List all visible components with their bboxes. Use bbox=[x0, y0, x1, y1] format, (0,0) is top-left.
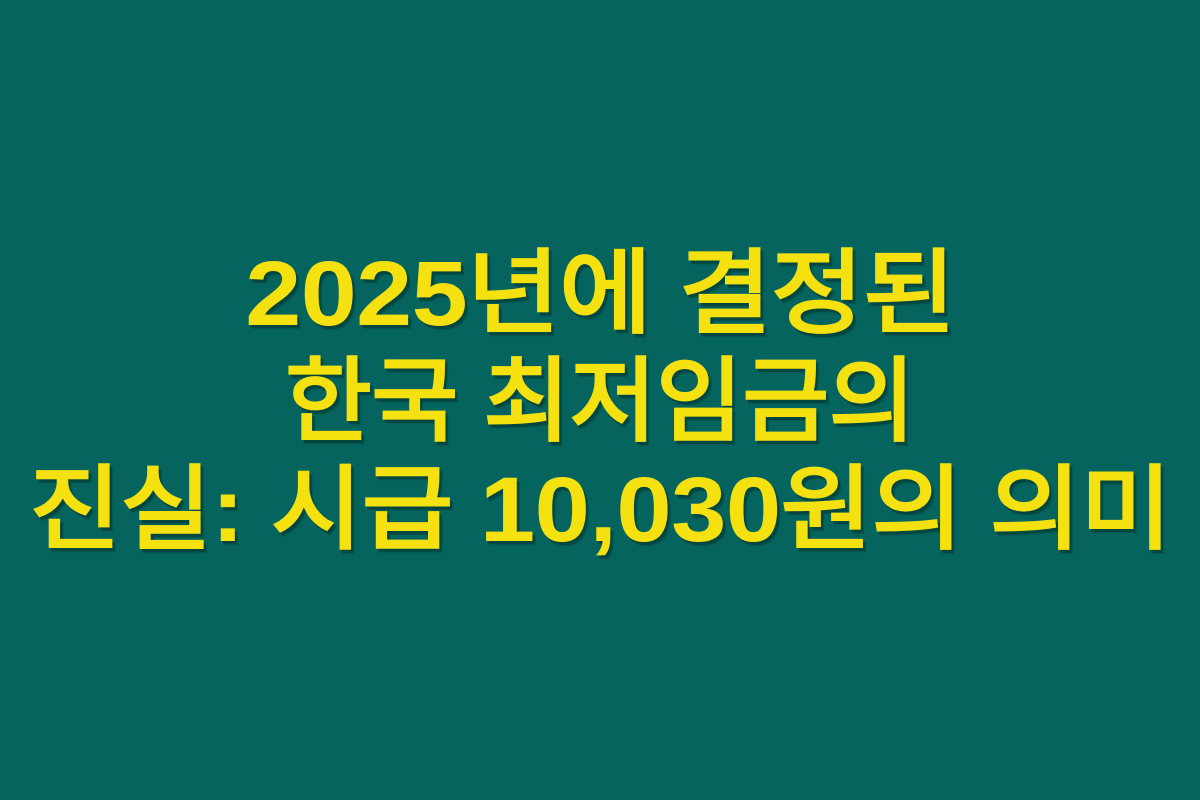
title-block: 2025년에 결정된 한국 최저임금의 진실: 시급 10,030원의 의미 bbox=[0, 248, 1200, 556]
title-line-1: 2025년에 결정된 bbox=[245, 248, 955, 340]
title-line-2: 한국 최저임금의 bbox=[285, 356, 915, 448]
title-line-3: 진실: 시급 10,030원의 의미 bbox=[29, 464, 1171, 556]
poster-canvas: 2025년에 결정된 한국 최저임금의 진실: 시급 10,030원의 의미 bbox=[0, 0, 1200, 800]
